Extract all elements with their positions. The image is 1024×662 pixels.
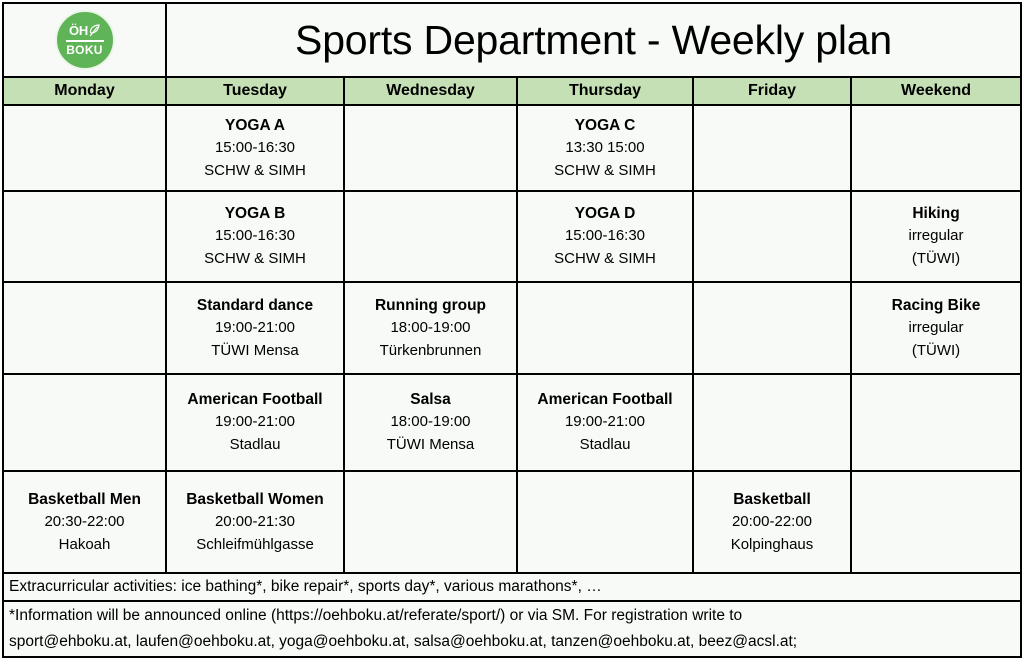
column-header-monday: Monday <box>3 77 166 105</box>
activity-time: irregular <box>908 228 963 245</box>
schedule-cell: YOGA B15:00-16:30SCHW & SIMH <box>166 191 344 282</box>
schedule-cell: Basketball Women20:00-21:30Schleifmühlga… <box>166 471 344 573</box>
logo-boku-text: BOKU <box>66 44 103 56</box>
weekly-plan-table: ÖH BOKU <box>2 2 1022 658</box>
column-header-label: Wednesday <box>386 82 475 99</box>
logo-cell: ÖH BOKU <box>3 3 166 77</box>
oeh-boku-logo: ÖH BOKU <box>55 10 115 70</box>
activity-place: Stadlau <box>580 437 631 454</box>
activity-place: (TÜWI) <box>912 251 960 268</box>
activity-place: Türkenbrunnen <box>380 343 482 360</box>
info-line-2-emails: sport@ehboku.at, laufen@oehboku.at, yoga… <box>4 629 1020 655</box>
activity-name: Salsa <box>410 391 451 408</box>
weekly-plan-sheet: ÖH BOKU <box>0 2 1024 662</box>
activity-place: SCHW & SIMH <box>204 163 306 180</box>
activity-place: SCHW & SIMH <box>554 251 656 268</box>
extracurricular-text: Extracurricular activities: ice bathing*… <box>4 578 1020 596</box>
info-line-1: *Information will be announced online (h… <box>4 603 1020 629</box>
column-header-friday: Friday <box>693 77 851 105</box>
schedule-cell: Running group18:00-19:00Türkenbrunnen <box>344 282 517 374</box>
page-title-cell: Sports Department - Weekly plan <box>166 3 1021 77</box>
schedule-row: YOGA B15:00-16:30SCHW & SIMH YOGA D15:00… <box>3 191 1021 282</box>
activity-place: SCHW & SIMH <box>554 163 656 180</box>
activity-time: 18:00-19:00 <box>390 414 470 431</box>
footer-info-row: *Information will be announced online (h… <box>3 601 1021 657</box>
schedule-cell: Salsa18:00-19:00TÜWI Mensa <box>344 374 517 471</box>
schedule-cell <box>344 105 517 191</box>
column-header-tuesday: Tuesday <box>166 77 344 105</box>
activity-time: 20:00-22:00 <box>732 514 812 531</box>
schedule-cell <box>693 282 851 374</box>
activity-place: Schleifmühlgasse <box>196 537 314 554</box>
schedule-cell: YOGA C13:30 15:00SCHW & SIMH <box>517 105 693 191</box>
activity-name: Basketball <box>733 491 811 508</box>
activity-time: 18:00-19:00 <box>390 320 470 337</box>
activity-name: YOGA D <box>575 205 636 222</box>
activity-time: 15:00-16:30 <box>215 228 295 245</box>
schedule-row: YOGA A15:00-16:30SCHW & SIMH YOGA C13:30… <box>3 105 1021 191</box>
title-row: ÖH BOKU <box>3 3 1021 77</box>
activity-place: Kolpinghaus <box>731 537 814 554</box>
activity-name: Basketball Men <box>28 491 141 508</box>
column-header-label: Tuesday <box>223 82 287 99</box>
activity-name: Racing Bike <box>892 297 981 314</box>
schedule-cell <box>851 471 1021 573</box>
activity-time: 20:30-22:00 <box>44 514 124 531</box>
schedule-cell: American Football19:00-21:00Stadlau <box>517 374 693 471</box>
schedule-cell <box>344 191 517 282</box>
leaf-icon <box>89 24 100 37</box>
activity-name: Running group <box>375 297 486 314</box>
logo-divider <box>66 40 104 42</box>
activity-name: American Football <box>187 391 322 408</box>
schedule-cell <box>3 374 166 471</box>
schedule-cell: Standard dance19:00-21:00TÜWI Mensa <box>166 282 344 374</box>
day-header-row: Monday Tuesday Wednesday Thursday Friday… <box>3 77 1021 105</box>
activity-place: Stadlau <box>230 437 281 454</box>
activity-place: (TÜWI) <box>912 343 960 360</box>
activity-time: 15:00-16:30 <box>215 140 295 157</box>
activity-time: 20:00-21:30 <box>215 514 295 531</box>
activity-name: Hiking <box>912 205 959 222</box>
extracurricular-cell: Extracurricular activities: ice bathing*… <box>3 573 1021 601</box>
column-header-label: Thursday <box>569 82 641 99</box>
activity-time: 19:00-21:00 <box>215 320 295 337</box>
schedule-cell <box>3 282 166 374</box>
column-header-weekend: Weekend <box>851 77 1021 105</box>
info-cell: *Information will be announced online (h… <box>3 601 1021 657</box>
schedule-cell <box>344 471 517 573</box>
schedule-cell: Basketball Men20:30-22:00Hakoah <box>3 471 166 573</box>
schedule-row: Basketball Men20:30-22:00Hakoah Basketba… <box>3 471 1021 573</box>
schedule-cell <box>517 282 693 374</box>
column-header-thursday: Thursday <box>517 77 693 105</box>
schedule-cell <box>693 374 851 471</box>
column-header-label: Monday <box>54 82 114 99</box>
schedule-row: Standard dance19:00-21:00TÜWI Mensa Runn… <box>3 282 1021 374</box>
schedule-cell <box>851 105 1021 191</box>
page-title: Sports Department - Weekly plan <box>295 17 892 63</box>
activity-place: TÜWI Mensa <box>387 437 475 454</box>
activity-name: YOGA B <box>225 205 286 222</box>
footer-extracurricular-row: Extracurricular activities: ice bathing*… <box>3 573 1021 601</box>
activity-time: 15:00-16:30 <box>565 228 645 245</box>
activity-name: Basketball Women <box>186 491 324 508</box>
logo-oeh-text: ÖH <box>69 24 88 37</box>
activity-place: TÜWI Mensa <box>211 343 299 360</box>
activity-time: irregular <box>908 320 963 337</box>
schedule-cell: American Football19:00-21:00Stadlau <box>166 374 344 471</box>
schedule-cell <box>3 105 166 191</box>
schedule-cell: Racing Bikeirregular(TÜWI) <box>851 282 1021 374</box>
activity-name: American Football <box>537 391 672 408</box>
activity-time: 19:00-21:00 <box>215 414 295 431</box>
schedule-cell <box>851 374 1021 471</box>
schedule-cell: Basketball20:00-22:00Kolpinghaus <box>693 471 851 573</box>
activity-name: YOGA A <box>225 117 285 134</box>
activity-place: Hakoah <box>59 537 111 554</box>
activity-name: YOGA C <box>575 117 636 134</box>
schedule-cell <box>693 191 851 282</box>
schedule-cell: YOGA D15:00-16:30SCHW & SIMH <box>517 191 693 282</box>
schedule-cell <box>693 105 851 191</box>
schedule-cell: YOGA A15:00-16:30SCHW & SIMH <box>166 105 344 191</box>
column-header-label: Weekend <box>901 82 971 99</box>
activity-time: 13:30 15:00 <box>565 140 644 157</box>
column-header-label: Friday <box>748 82 796 99</box>
schedule-row: American Football19:00-21:00Stadlau Sals… <box>3 374 1021 471</box>
activity-time: 19:00-21:00 <box>565 414 645 431</box>
activity-name: Standard dance <box>197 297 313 314</box>
schedule-cell <box>3 191 166 282</box>
schedule-cell: Hikingirregular(TÜWI) <box>851 191 1021 282</box>
column-header-wednesday: Wednesday <box>344 77 517 105</box>
schedule-cell <box>517 471 693 573</box>
activity-place: SCHW & SIMH <box>204 251 306 268</box>
